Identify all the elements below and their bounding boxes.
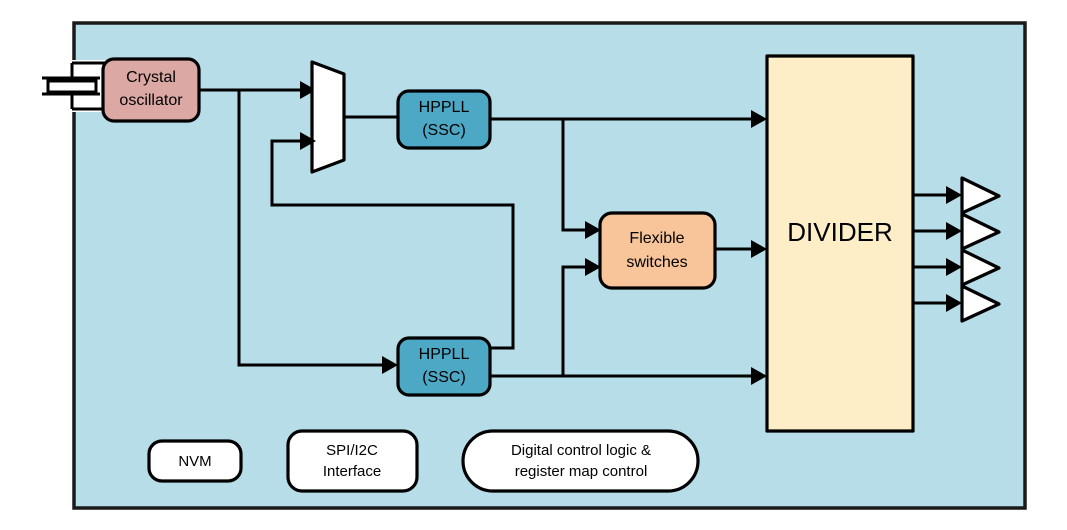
crystal-resonator-body [48,81,96,92]
digital-control-label-1: Digital control logic & [511,442,651,459]
digital-control-box[interactable] [463,431,698,491]
clock-mux-shape[interactable] [312,62,344,172]
hppll-bottom-label-1: HPPLL [419,346,470,363]
spi-i2c-label-1: SPI/I2C [326,442,378,459]
hppll-top-label-2: (SSC) [422,122,466,139]
nvm-label: NVM [178,453,211,470]
crystal-oscillator-label-2: oscillator [119,92,183,109]
nvm-block[interactable]: NVM [149,441,241,481]
flexible-switches-block[interactable]: Flexible switches [600,213,715,288]
hppll-bottom-label-2: (SSC) [422,369,466,386]
spi-i2c-label-2: Interface [323,463,381,480]
block-diagram-canvas: Crystal oscillator HPPLL (SSC) [0,0,1067,530]
hppll-bottom-block[interactable]: HPPLL (SSC) [398,338,490,395]
flexible-switches-label-2: switches [626,254,687,271]
flexible-switches-label-1: Flexible [629,230,684,247]
spi-i2c-box[interactable] [288,431,417,491]
crystal-oscillator-label-1: Crystal [126,69,176,86]
clock-generator-block-diagram: Crystal oscillator HPPLL (SSC) [0,0,1067,530]
flexible-switches-box[interactable] [600,213,715,288]
digital-control-label-2: register map control [515,463,648,480]
divider-block[interactable]: DIVIDER [767,56,913,431]
digital-control-logic-block[interactable]: Digital control logic & register map con… [463,431,698,491]
crystal-oscillator-block[interactable]: Crystal oscillator [103,59,199,121]
hppll-top-block[interactable]: HPPLL (SSC) [398,91,490,148]
divider-label: DIVIDER [787,217,892,247]
clock-mux-block[interactable] [312,62,344,172]
spi-i2c-interface-block[interactable]: SPI/I2C Interface [288,431,417,491]
hppll-top-label-1: HPPLL [419,99,470,116]
